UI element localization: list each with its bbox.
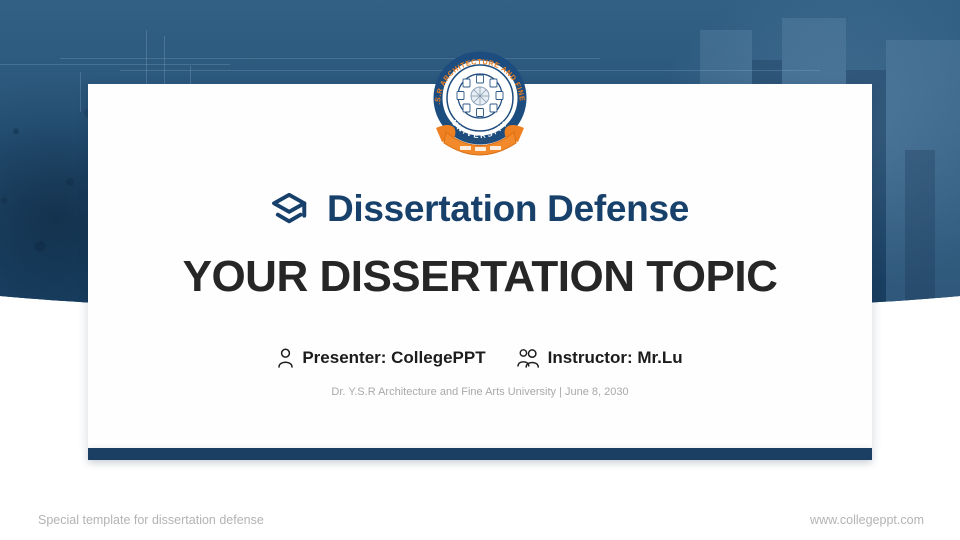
presenter-item: Presenter: CollegePPT — [277, 348, 485, 368]
headline-row: Dissertation Defense — [0, 190, 960, 227]
footer-left-text: Special template for dissertation defens… — [38, 513, 264, 527]
headline-text: Dissertation Defense — [327, 190, 689, 227]
background-post — [164, 36, 165, 84]
people-icon — [516, 348, 540, 368]
footer-website-link[interactable]: www.collegeppt.com — [810, 513, 924, 527]
graduation-cap-icon — [271, 192, 313, 226]
presentation-title-slide: DR. Y.S.R ARCHITECTURE AND FINE ARTS UNI… — [0, 0, 960, 540]
svg-text:VIJAYAWADA: VIJAYAWADA — [465, 138, 495, 143]
background-post — [146, 30, 147, 86]
card-bottom-accent-bar — [88, 448, 872, 460]
instructor-item: Instructor: Mr.Lu — [516, 348, 683, 368]
presenter-label: Presenter: CollegePPT — [302, 348, 485, 368]
instructor-label: Instructor: Mr.Lu — [548, 348, 683, 368]
university-seal: DR. Y.S.R ARCHITECTURE AND FINE ARTS UNI… — [424, 46, 536, 158]
page-title: YOUR DISSERTATION TOPIC — [0, 253, 960, 301]
university-and-date: Dr. Y.S.R Architecture and Fine Arts Uni… — [0, 386, 960, 398]
background-railing-line — [0, 64, 230, 65]
person-icon — [277, 348, 294, 368]
people-row: Presenter: CollegePPT Instructor: Mr.Lu — [0, 348, 960, 368]
background-post — [80, 72, 81, 112]
